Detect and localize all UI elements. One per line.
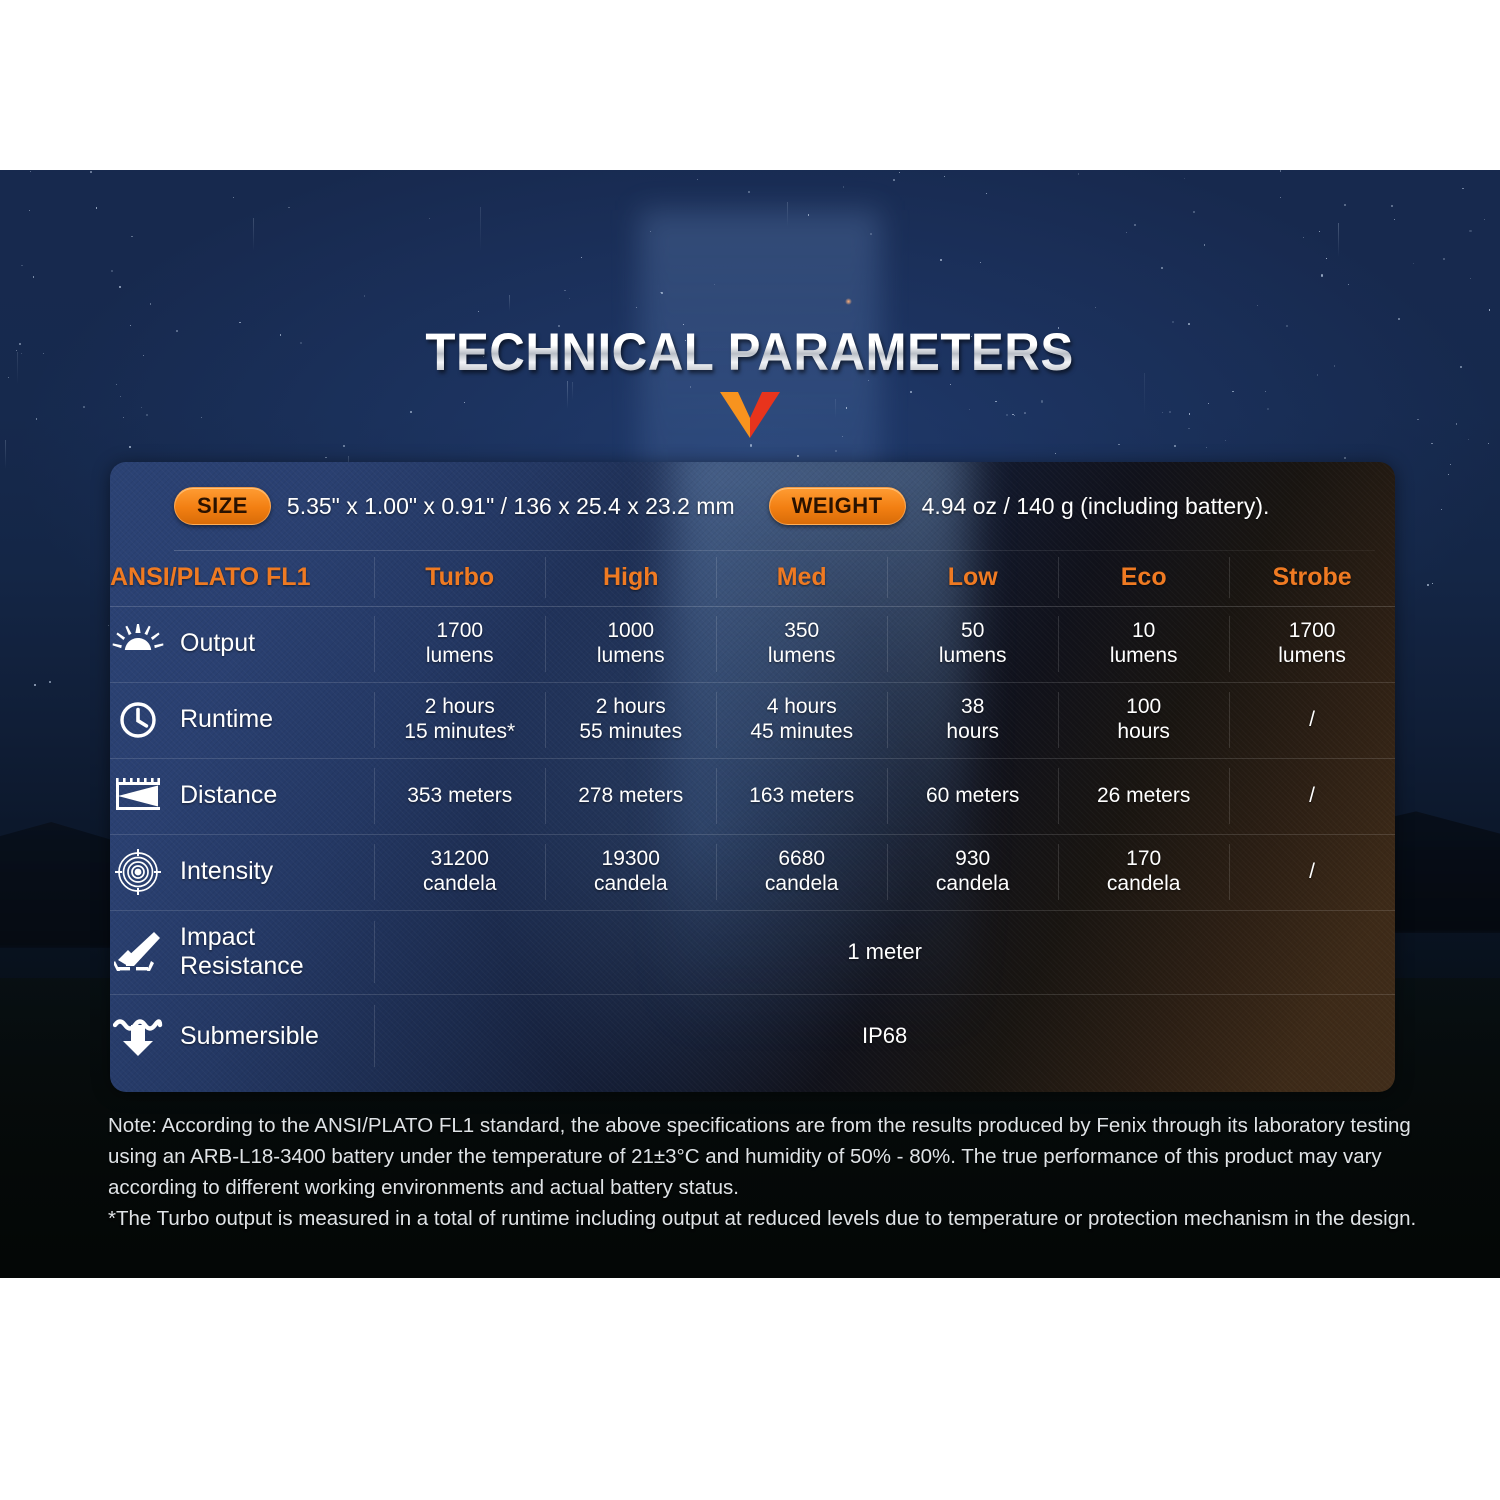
size-badge: SIZE	[174, 487, 271, 525]
page-title: TECHNICAL PARAMETERS	[426, 322, 1074, 383]
footnote-line-1: Note: According to the ANSI/PLATO FL1 st…	[108, 1110, 1428, 1203]
row-label-cell: Runtime	[110, 682, 374, 758]
table-cell: 1700lumens	[374, 606, 545, 682]
row-label: Runtime	[180, 705, 273, 735]
table-row: Distance353 meters278 meters163 meters60…	[110, 758, 1395, 834]
table-cell: 50lumens	[887, 606, 1058, 682]
row-label: Distance	[180, 781, 277, 811]
page-root: TECHNICAL PARAMETERS SIZE 5.35" x 1.00" …	[0, 0, 1500, 1500]
table-cell-span: 1 meter	[374, 910, 1395, 994]
table-header-row: ANSI/PLATO FL1 Turbo High Med Low Eco St…	[110, 550, 1395, 606]
row-label-cell: Intensity	[110, 834, 374, 910]
table-row: ImpactResistance1 meter	[110, 910, 1395, 994]
table-cell: 60 meters	[887, 758, 1058, 834]
beam-distance-icon	[110, 773, 166, 819]
footnote: Note: According to the ANSI/PLATO FL1 st…	[108, 1110, 1428, 1235]
header-ansi: ANSI/PLATO FL1	[110, 550, 374, 606]
header-low: Low	[887, 550, 1058, 606]
table-cell: 1700lumens	[1229, 606, 1395, 682]
target-intensity-icon	[110, 849, 166, 895]
size-weight-row: SIZE 5.35" x 1.00" x 0.91" / 136 x 25.4 …	[110, 462, 1395, 550]
table-cell: 350lumens	[716, 606, 887, 682]
footnote-line-2: *The Turbo output is measured in a total…	[108, 1203, 1428, 1234]
table-row: Runtime2 hours15 minutes*2 hours55 minut…	[110, 682, 1395, 758]
row-label: Intensity	[180, 857, 273, 887]
table-cell: 163 meters	[716, 758, 887, 834]
spec-table: ANSI/PLATO FL1 Turbo High Med Low Eco St…	[110, 550, 1395, 1078]
table-cell: 1000lumens	[545, 606, 716, 682]
chevron-down-icon	[720, 392, 780, 438]
header-high: High	[545, 550, 716, 606]
table-cell: 31200candela	[374, 834, 545, 910]
header-strobe: Strobe	[1229, 550, 1395, 606]
table-cell: 2 hours15 minutes*	[374, 682, 545, 758]
row-label-cell: Output	[110, 606, 374, 682]
table-cell: 38hours	[887, 682, 1058, 758]
ember-dot	[845, 298, 852, 305]
row-label-cell: Submersible	[110, 994, 374, 1078]
header-turbo: Turbo	[374, 550, 545, 606]
table-cell: 4 hours45 minutes	[716, 682, 887, 758]
row-label-cell: ImpactResistance	[110, 910, 374, 994]
spec-panel: SIZE 5.35" x 1.00" x 0.91" / 136 x 25.4 …	[110, 462, 1395, 1092]
clock-icon	[110, 697, 166, 743]
table-cell: /	[1229, 834, 1395, 910]
weight-value: 4.94 oz / 140 g (including battery).	[922, 493, 1270, 520]
row-label: Submersible	[180, 1022, 319, 1052]
table-cell: 2 hours55 minutes	[545, 682, 716, 758]
header-med: Med	[716, 550, 887, 606]
row-label-cell: Distance	[110, 758, 374, 834]
weight-badge: WEIGHT	[769, 487, 906, 525]
impact-arrow-icon	[110, 929, 166, 975]
row-label: ImpactResistance	[180, 923, 304, 982]
table-cell: /	[1229, 758, 1395, 834]
sunburst-icon	[110, 621, 166, 667]
table-cell: 170candela	[1058, 834, 1229, 910]
table-cell: 26 meters	[1058, 758, 1229, 834]
table-cell: /	[1229, 682, 1395, 758]
submersible-icon	[110, 1013, 166, 1059]
header-eco: Eco	[1058, 550, 1229, 606]
row-label: Output	[180, 629, 255, 659]
table-cell: 278 meters	[545, 758, 716, 834]
page-title-wrap: TECHNICAL PARAMETERS	[0, 322, 1500, 383]
table-cell: 353 meters	[374, 758, 545, 834]
table-cell: 10lumens	[1058, 606, 1229, 682]
table-row: SubmersibleIP68	[110, 994, 1395, 1078]
table-cell: 6680candela	[716, 834, 887, 910]
table-cell: 100hours	[1058, 682, 1229, 758]
table-cell: 930candela	[887, 834, 1058, 910]
size-value: 5.35" x 1.00" x 0.91" / 136 x 25.4 x 23.…	[287, 493, 735, 520]
table-row: Output1700lumens1000lumens350lumens50lum…	[110, 606, 1395, 682]
table-body: Output1700lumens1000lumens350lumens50lum…	[110, 606, 1395, 1078]
table-row: Intensity31200candela19300candela6680can…	[110, 834, 1395, 910]
table-cell-span: IP68	[374, 994, 1395, 1078]
table-cell: 19300candela	[545, 834, 716, 910]
chevron-accent-wrap	[0, 392, 1500, 443]
